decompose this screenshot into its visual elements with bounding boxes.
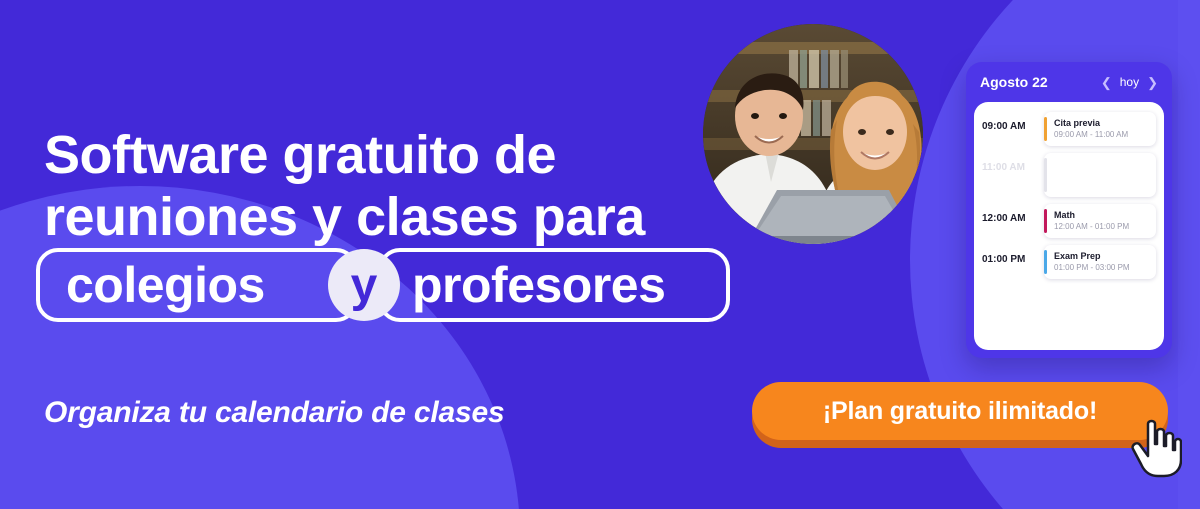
- highlight-pill-profesores-label: profesores: [412, 256, 665, 314]
- students-photo: [703, 24, 923, 244]
- students-photo-illustration: [703, 24, 923, 244]
- calendar-event[interactable]: Exam Prep 01:00 PM - 03:00 PM: [1044, 245, 1156, 279]
- highlight-pill-profesores: profesores: [378, 248, 730, 322]
- calendar-event-range: 09:00 AM - 11:00 AM: [1054, 130, 1128, 139]
- calendar-header: Agosto 22 ❮ hoy ❯: [966, 62, 1172, 102]
- calendar-slot[interactable]: 11:00 AM: [982, 153, 1156, 197]
- banner-subtitle: Organiza tu calendario de clases: [44, 396, 504, 430]
- page-title: Software gratuito de reuniones y clases …: [44, 124, 724, 248]
- calendar-event-range: 01:00 PM - 03:00 PM: [1054, 263, 1130, 272]
- calendar-slot[interactable]: 09:00 AM Cita previa 09:00 AM - 11:00 AM: [982, 112, 1156, 146]
- highlight-pill-colegios-label: colegios: [66, 256, 265, 314]
- chevron-right-icon[interactable]: ❯: [1147, 76, 1158, 89]
- calendar-slot-time: 01:00 PM: [982, 245, 1044, 265]
- calendar-event-range: 12:00 AM - 01:00 PM: [1054, 222, 1129, 231]
- calendar-date-title: Agosto 22: [980, 74, 1101, 90]
- highlight-conjunction-badge: y: [328, 249, 400, 321]
- calendar-event-empty[interactable]: [1044, 153, 1156, 197]
- calendar-today-button[interactable]: hoy: [1120, 75, 1139, 89]
- calendar-event-text: Cita previa 09:00 AM - 11:00 AM: [1047, 112, 1134, 146]
- cta-button[interactable]: ¡Plan gratuito ilimitado!: [752, 382, 1168, 440]
- calendar-slot[interactable]: 12:00 AM Math 12:00 AM - 01:00 PM: [982, 204, 1156, 238]
- calendar-event[interactable]: Math 12:00 AM - 01:00 PM: [1044, 204, 1156, 238]
- highlight-conjunction-label: y: [351, 258, 378, 313]
- calendar-event[interactable]: Cita previa 09:00 AM - 11:00 AM: [1044, 112, 1156, 146]
- calendar-event-title: Cita previa: [1054, 118, 1128, 128]
- calendar-slot[interactable]: 01:00 PM Exam Prep 01:00 PM - 03:00 PM: [982, 245, 1156, 279]
- calendar-slot-list: 09:00 AM Cita previa 09:00 AM - 11:00 AM…: [974, 102, 1164, 350]
- banner-content: Software gratuito de reuniones y clases …: [44, 0, 724, 509]
- calendar-event-text: Exam Prep 01:00 PM - 03:00 PM: [1047, 245, 1136, 279]
- calendar-slot-time: 12:00 AM: [982, 204, 1044, 224]
- chevron-left-icon[interactable]: ❮: [1101, 76, 1112, 89]
- promo-banner: Software gratuito de reuniones y clases …: [0, 0, 1200, 509]
- calendar-nav: ❮ hoy ❯: [1101, 75, 1158, 89]
- calendar-slot-time: 11:00 AM: [982, 153, 1044, 173]
- highlight-pill-row: colegios y profesores: [36, 248, 736, 326]
- pointing-hand-cursor-icon: [1130, 418, 1182, 478]
- calendar-event-title: Exam Prep: [1054, 251, 1130, 261]
- calendar-event-text: [1047, 153, 1060, 197]
- calendar-event-text: Math 12:00 AM - 01:00 PM: [1047, 204, 1135, 238]
- calendar-event-title: Math: [1054, 210, 1129, 220]
- highlight-pill-colegios: colegios: [36, 248, 358, 322]
- cta-container: ¡Plan gratuito ilimitado!: [752, 382, 1168, 448]
- calendar-widget: Agosto 22 ❮ hoy ❯ 09:00 AM Cita previa 0…: [966, 62, 1172, 358]
- calendar-slot-time: 09:00 AM: [982, 112, 1044, 132]
